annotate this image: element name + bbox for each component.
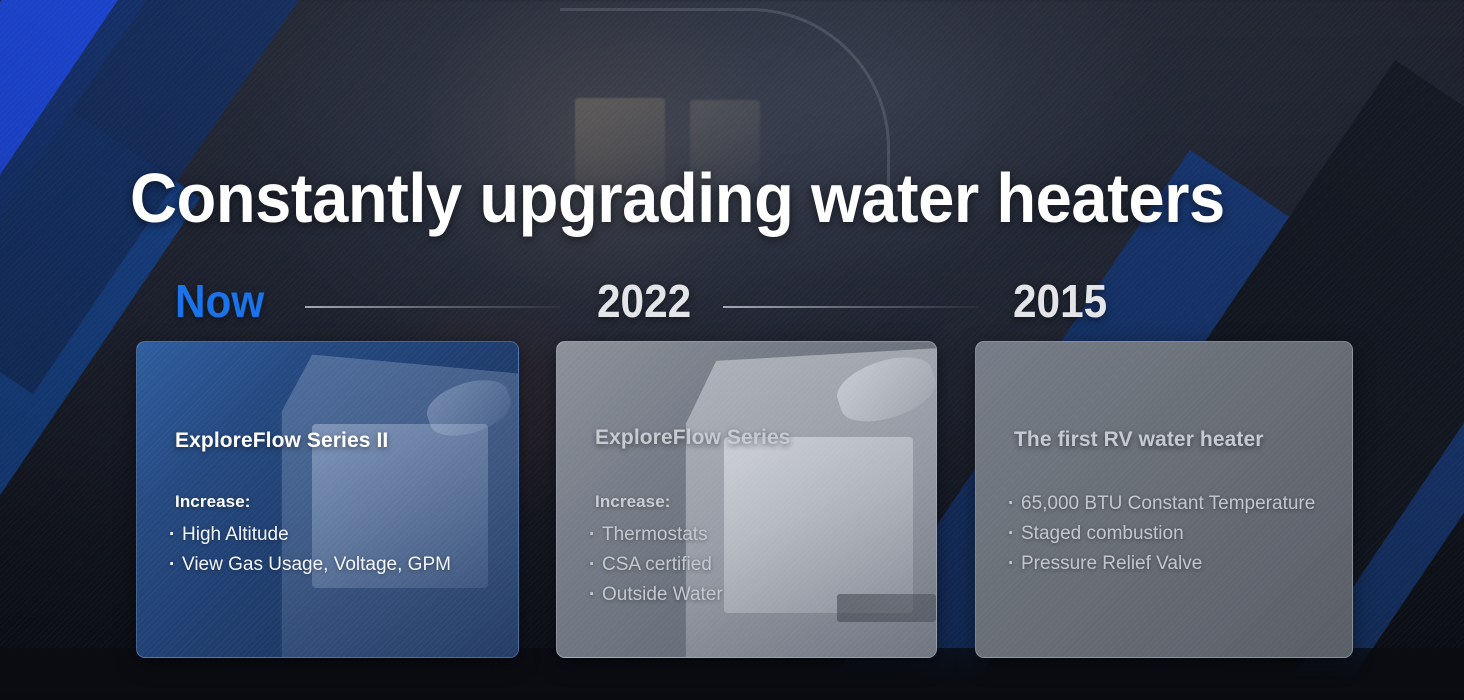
list-item: Staged combustion <box>1008 519 1315 549</box>
timeline-label-now: Now <box>175 278 264 334</box>
card-body: The first RV water heater 65,000 BTU Con… <box>976 342 1352 657</box>
timeline-card-2015[interactable]: The first RV water heater 65,000 BTU Con… <box>975 341 1353 658</box>
list-item: Thermostats <box>589 520 723 550</box>
list-item: View Gas Usage, Voltage, GPM <box>169 550 451 580</box>
timeline-connector-2 <box>723 306 978 308</box>
card-title: ExploreFlow Series II <box>175 429 388 453</box>
card-feature-list: Thermostats CSA certified Outside Water <box>589 520 723 610</box>
card-title: The first RV water heater <box>1014 428 1264 452</box>
timeline-label-2022: 2022 <box>597 278 691 334</box>
list-item: High Altitude <box>169 520 451 550</box>
list-item: CSA certified <box>589 550 723 580</box>
list-item: 65,000 BTU Constant Temperature <box>1008 489 1315 519</box>
hero-banner: Constantly upgrading water heaters Now 2… <box>0 0 1464 700</box>
timeline-label-2015: 2015 <box>1013 278 1107 334</box>
card-title: ExploreFlow Series <box>595 426 791 450</box>
card-subhead: Increase: <box>175 492 251 512</box>
timeline-card-now[interactable]: ExploreFlow Series II Increase: High Alt… <box>136 341 519 658</box>
list-item: Pressure Relief Valve <box>1008 549 1315 579</box>
card-subhead: Increase: <box>595 492 671 512</box>
card-feature-list: 65,000 BTU Constant Temperature Staged c… <box>1008 489 1315 579</box>
card-feature-list: High Altitude View Gas Usage, Voltage, G… <box>169 520 451 580</box>
page-title: Constantly upgrading water heaters <box>130 158 1225 238</box>
timeline-connector-1 <box>305 306 560 308</box>
card-body: ExploreFlow Series II Increase: High Alt… <box>137 342 518 657</box>
card-body: ExploreFlow Series Increase: Thermostats… <box>557 342 936 657</box>
list-item: Outside Water <box>589 580 723 610</box>
timeline-card-2022[interactable]: ExploreFlow Series Increase: Thermostats… <box>556 341 937 658</box>
